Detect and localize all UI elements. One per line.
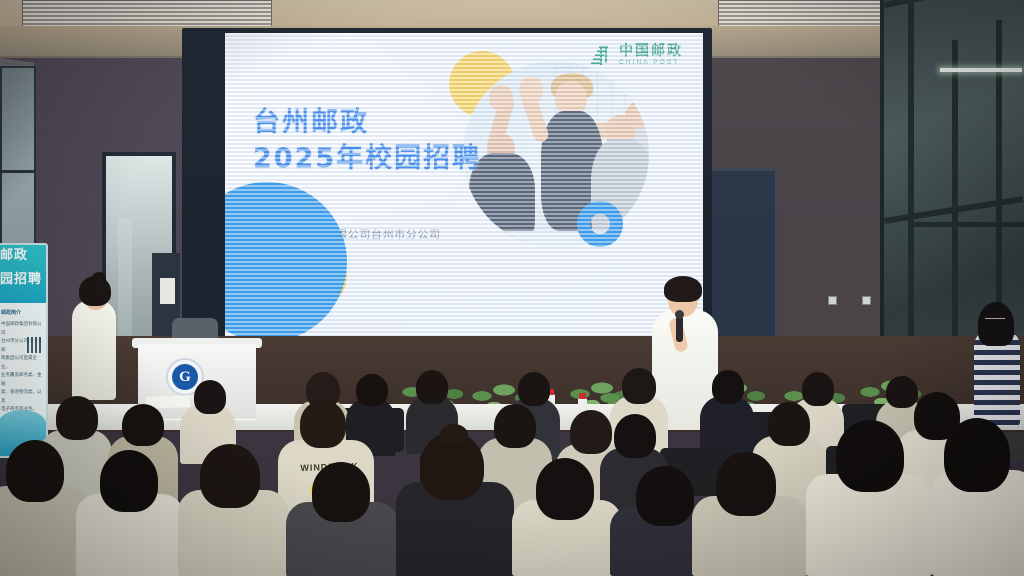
audience-head-r3-4 (416, 370, 448, 404)
power-outlet-icon[interactable] (862, 296, 871, 305)
audience-head-r3-9 (886, 376, 918, 408)
standing-woman-left-hairbun (92, 272, 106, 284)
audience-head-r1-3 (200, 444, 260, 508)
slide-title-block: 台州邮政 2025年校园招聘 (253, 105, 481, 176)
audience-head-r2-7 (768, 402, 810, 446)
door-left-light (118, 218, 132, 353)
audience-head-r2-1 (56, 396, 98, 440)
china-post-logo: 中国邮政 CHINA POST (588, 43, 683, 67)
qr-code-icon[interactable] (27, 337, 43, 353)
audience-head-r3-6 (622, 368, 656, 404)
presentation-scene: 中国邮政 CHINA POST (0, 0, 1024, 576)
audience-head-r2-graphic-tee (300, 400, 346, 448)
slide-title-line1: 台州邮政 (253, 105, 481, 141)
slide-title-line2: 2025年校园招聘 (253, 141, 481, 177)
slide-quarter-circle (225, 182, 347, 336)
china-post-emblem-icon (588, 43, 614, 67)
slide-blue-ring (577, 201, 623, 247)
logo-text-cn: 中国邮政 (619, 44, 683, 58)
standing-woman-left-body (72, 300, 116, 400)
logo-text-en: CHINA POST (619, 60, 683, 67)
audience-head-r1-8 (716, 452, 776, 516)
audience-head-r1-6 (536, 458, 594, 520)
presentation-slide[interactable]: 中国邮政 CHINA POST (225, 33, 703, 336)
handheld-microphone-icon[interactable] (676, 316, 683, 342)
audience-head-r1-1 (6, 440, 64, 502)
audience-head-r1-10 (944, 418, 1010, 492)
wall-notice-paper (160, 278, 175, 304)
audience-head-r1-4 (312, 462, 370, 522)
audience-body-r3-7 (700, 396, 754, 454)
audience-head-r3-8 (802, 372, 834, 406)
glass-frame-horizontal-low (908, 222, 1024, 227)
audience-head-r2-4 (494, 404, 536, 448)
audience-head-r3-3 (356, 374, 388, 406)
standing-woman-right-hair (978, 302, 1014, 346)
audience-hairbun-r1-5 (440, 424, 468, 446)
photo-hand-b (519, 77, 543, 103)
eyeglasses-icon (985, 318, 1005, 323)
audience-head-r3-1 (194, 380, 226, 414)
audience-head-r2-5 (570, 410, 612, 454)
tube-light-fixture-icon (940, 68, 1022, 72)
standee-title-1: 邮政 (0, 247, 28, 266)
audience-head-r1-2 (100, 450, 158, 512)
audience-head-r3-7 (712, 370, 744, 404)
rollup-banner[interactable]: 邮政 园招聘 邮政简介 中国邮政集团有限公司台州市分公司是中国邮政集团公司直属企… (0, 243, 48, 458)
china-post-logo-text: 中国邮政 CHINA POST (619, 44, 683, 67)
podium-emblem-letter: G (172, 364, 198, 390)
audience-head-r3-5 (518, 372, 550, 406)
glass-frame-horizontal-top (884, 0, 1023, 8)
audience-head-r1-9 (836, 420, 904, 492)
light-switch-icon[interactable] (828, 296, 837, 305)
audience-head-r2-2 (122, 404, 164, 446)
presenter-hair (664, 276, 702, 302)
photo-table (463, 231, 649, 247)
photo-hand-a (489, 85, 513, 111)
audience-head-r1-7 (636, 466, 694, 526)
glass-mullion-left (0, 170, 36, 173)
audience-head-r2-6 (614, 414, 656, 458)
standee-title-2: 园招聘 (0, 271, 42, 290)
standee-header: 邮政 园招聘 (0, 245, 46, 303)
standee-section-label: 邮政简介 (1, 309, 21, 316)
